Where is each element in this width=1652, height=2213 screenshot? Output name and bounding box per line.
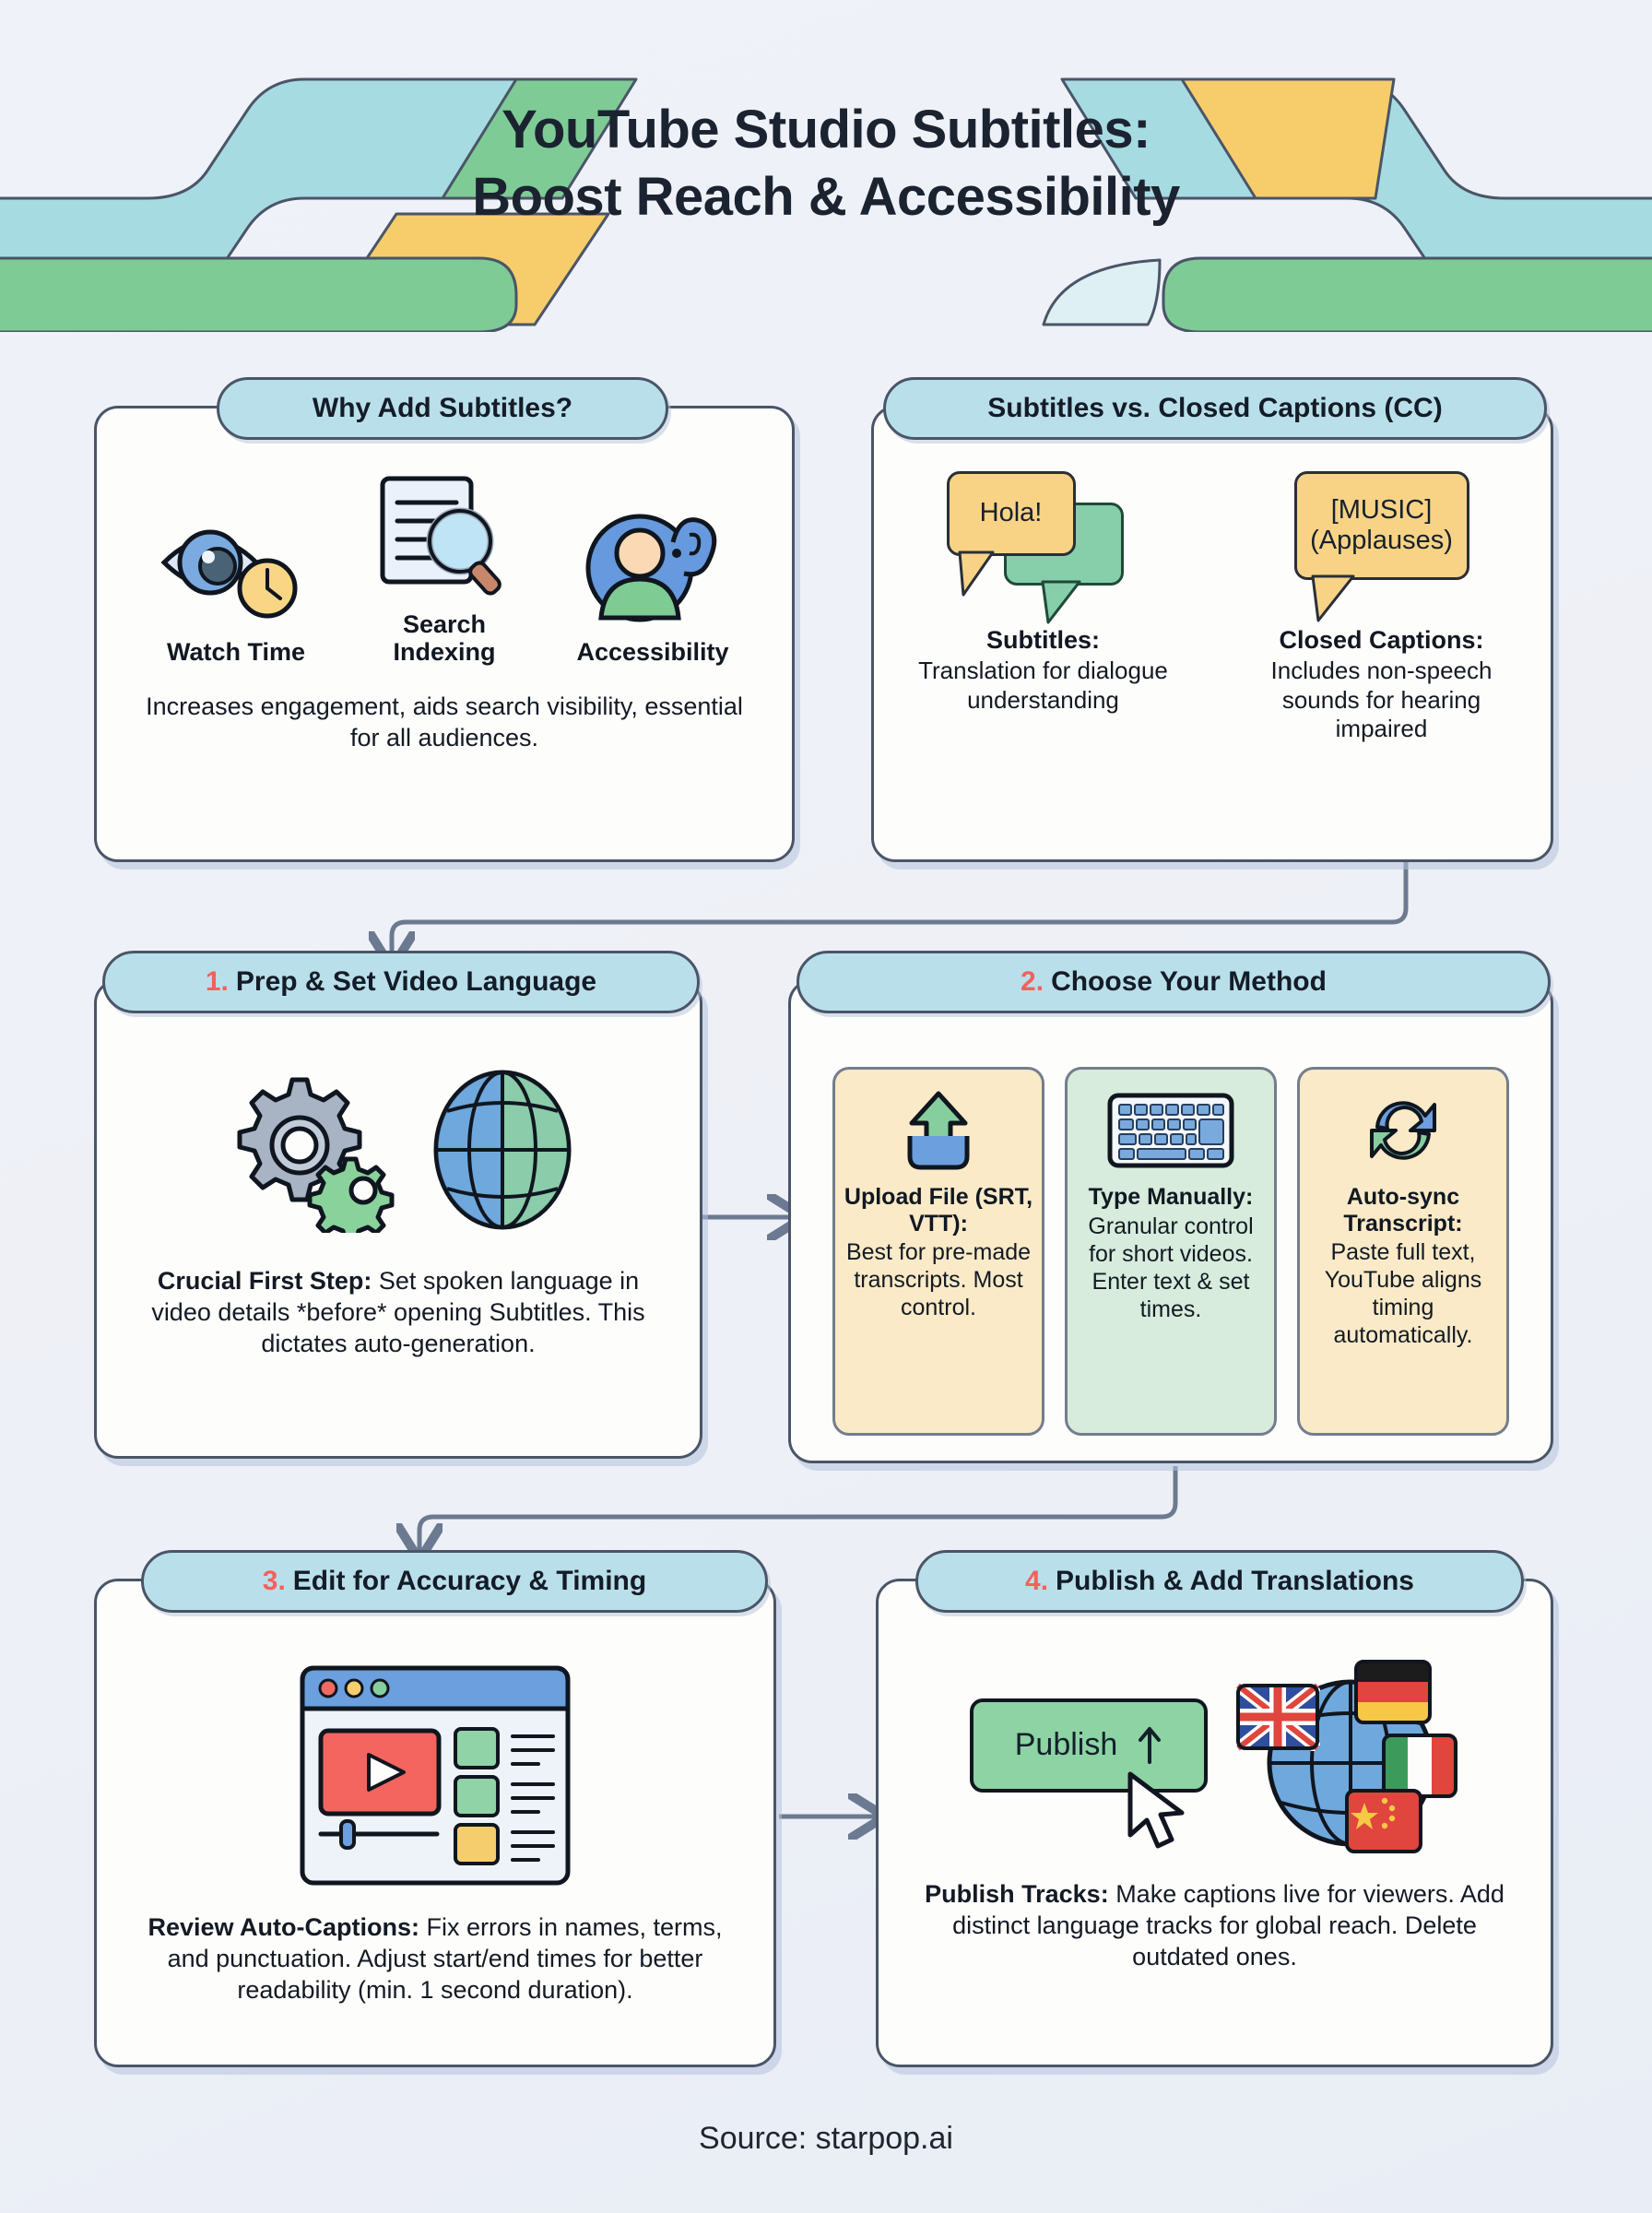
globe-flags-icon: [1235, 1659, 1466, 1857]
keyboard-icon: [1106, 1088, 1235, 1173]
benefit-search-indexing: Search Indexing: [352, 473, 537, 666]
upload-icon: [897, 1088, 980, 1173]
bubble-music: [MUSIC] (Applauses): [1294, 471, 1469, 580]
method-upload-file[interactable]: Upload File (SRT, VTT): Best for pre-mad…: [832, 1067, 1044, 1436]
cc-column-closed-captions: [MUSIC] (Applauses) Closed Captions: Inc…: [1244, 469, 1520, 744]
step-1-header-pill: 1.Prep & Set Video Language: [102, 951, 700, 1013]
benefit-watch-time-label: Watch Time: [167, 638, 305, 666]
method-upload-title: Upload File (SRT, VTT):: [843, 1184, 1034, 1237]
step-4-body: Publish Tracks: Make captions live for v…: [879, 1879, 1551, 1972]
title-line-2: Boost Reach & Accessibility: [0, 164, 1652, 231]
uk-flag: [1235, 1683, 1320, 1751]
method-type-desc: Granular control for short videos. Enter…: [1075, 1213, 1267, 1323]
infographic-root: YouTube Studio Subtitles: Boost Reach & …: [0, 0, 1652, 2213]
title-line-1: YouTube Studio Subtitles:: [0, 97, 1652, 164]
step-2-title: Choose Your Method: [1051, 966, 1327, 997]
method-autosync-desc: Paste full text, YouTube aligns timing a…: [1307, 1238, 1499, 1349]
cc-captions-desc: Includes non-speech sounds for hearing i…: [1244, 657, 1520, 744]
benefit-search-indexing-label: Search Indexing: [352, 610, 537, 666]
bubble-music-line1: [MUSIC]: [1331, 495, 1433, 526]
document-magnifier-icon: [366, 473, 523, 598]
speech-bubble-icon: [MUSIC] (Applauses): [1276, 469, 1488, 617]
benefit-watch-time: Watch Time: [144, 505, 328, 666]
benefit-accessibility: Accessibility: [560, 505, 745, 666]
video-editor-window-icon: [297, 1663, 573, 1888]
benefit-accessibility-label: Accessibility: [576, 638, 728, 666]
bubble-hola-text: Hola!: [980, 498, 1043, 528]
gears-globe-icon: [218, 1067, 403, 1233]
method-auto-sync[interactable]: Auto-sync Transcript: Paste full text, Y…: [1297, 1067, 1509, 1436]
step-1-body: Crucial First Step: Set spoken language …: [97, 1266, 700, 1359]
step-2-number: 2.: [1021, 966, 1044, 997]
step-1-number: 1.: [206, 966, 229, 997]
person-ear-icon: [577, 505, 729, 625]
sync-arrows-icon: [1357, 1088, 1449, 1173]
cc-subtitles-desc: Translation for dialogue understanding: [905, 657, 1182, 715]
method-type-manually[interactable]: Type Manually: Granular control for shor…: [1065, 1067, 1277, 1436]
method-upload-desc: Best for pre-made transcripts. Most cont…: [843, 1238, 1034, 1321]
card-why-title: Why Add Subtitles?: [313, 393, 572, 424]
germany-flag: [1353, 1659, 1433, 1725]
card-why-add-subtitles: Why Add Subtitles? Watch Time: [94, 406, 795, 862]
yellow-bubble-tail: [956, 550, 998, 600]
step-2-header-pill: 2.Choose Your Method: [796, 951, 1551, 1013]
cc-subtitles-heading: Subtitles:: [986, 626, 1100, 655]
source-footer: Source: starpop.ai: [0, 2121, 1652, 2157]
step-3-number: 3.: [263, 1566, 286, 1596]
card-step-2: 2.Choose Your Method Upload File (SRT, V…: [788, 979, 1553, 1463]
step-3-body-bold: Review Auto-Captions:: [147, 1913, 419, 1941]
card-subtitles-vs-cc: Subtitles vs. Closed Captions (CC) Hola!: [871, 406, 1553, 862]
up-arrow-icon: [1138, 1726, 1162, 1765]
cc-captions-heading: Closed Captions:: [1279, 626, 1483, 655]
globe-icon: [427, 1067, 579, 1233]
step-3-header-pill: 3.Edit for Accuracy & Timing: [141, 1550, 768, 1613]
bubble-hola: Hola!: [947, 471, 1076, 556]
speech-bubbles-icon: Hola!: [938, 469, 1150, 617]
card-step-4: 4.Publish & Add Translations Publish: [876, 1579, 1553, 2067]
method-autosync-title: Auto-sync Transcript:: [1307, 1184, 1499, 1237]
card-step-3: 3.Edit for Accuracy & Timing: [94, 1579, 776, 2067]
card-vs-title: Subtitles vs. Closed Captions (CC): [987, 393, 1442, 424]
method-type-title: Type Manually:: [1089, 1184, 1254, 1211]
page-title: YouTube Studio Subtitles: Boost Reach & …: [0, 97, 1652, 231]
china-flag: [1344, 1788, 1423, 1854]
step-4-title: Publish & Add Translations: [1056, 1566, 1414, 1596]
green-bubble-tail: [1039, 580, 1085, 628]
step-1-title: Prep & Set Video Language: [236, 966, 596, 997]
step-3-body: Review Auto-Captions: Fix errors in name…: [97, 1912, 773, 2006]
eye-clock-icon: [153, 505, 319, 625]
publish-button-label: Publish: [1015, 1727, 1118, 1763]
cc-column-subtitles: Hola! Subtitles: Translation for dialogu…: [905, 469, 1182, 744]
step-4-body-bold: Publish Tracks:: [925, 1880, 1109, 1908]
card-step-1: 1.Prep & Set Video Language: [94, 979, 702, 1459]
step-4-header-pill: 4.Publish & Add Translations: [915, 1550, 1524, 1613]
card-why-summary: Increases engagement, aids search visibi…: [97, 692, 792, 754]
step-3-title: Edit for Accuracy & Timing: [293, 1566, 646, 1596]
music-bubble-tail: [1309, 574, 1359, 626]
step-4-number: 4.: [1025, 1566, 1048, 1596]
cursor-icon: [1121, 1769, 1197, 1855]
card-vs-header-pill: Subtitles vs. Closed Captions (CC): [883, 377, 1547, 440]
step-1-body-bold: Crucial First Step:: [158, 1267, 372, 1295]
card-why-header-pill: Why Add Subtitles?: [217, 377, 668, 440]
bubble-music-line2: (Applauses): [1310, 526, 1453, 556]
